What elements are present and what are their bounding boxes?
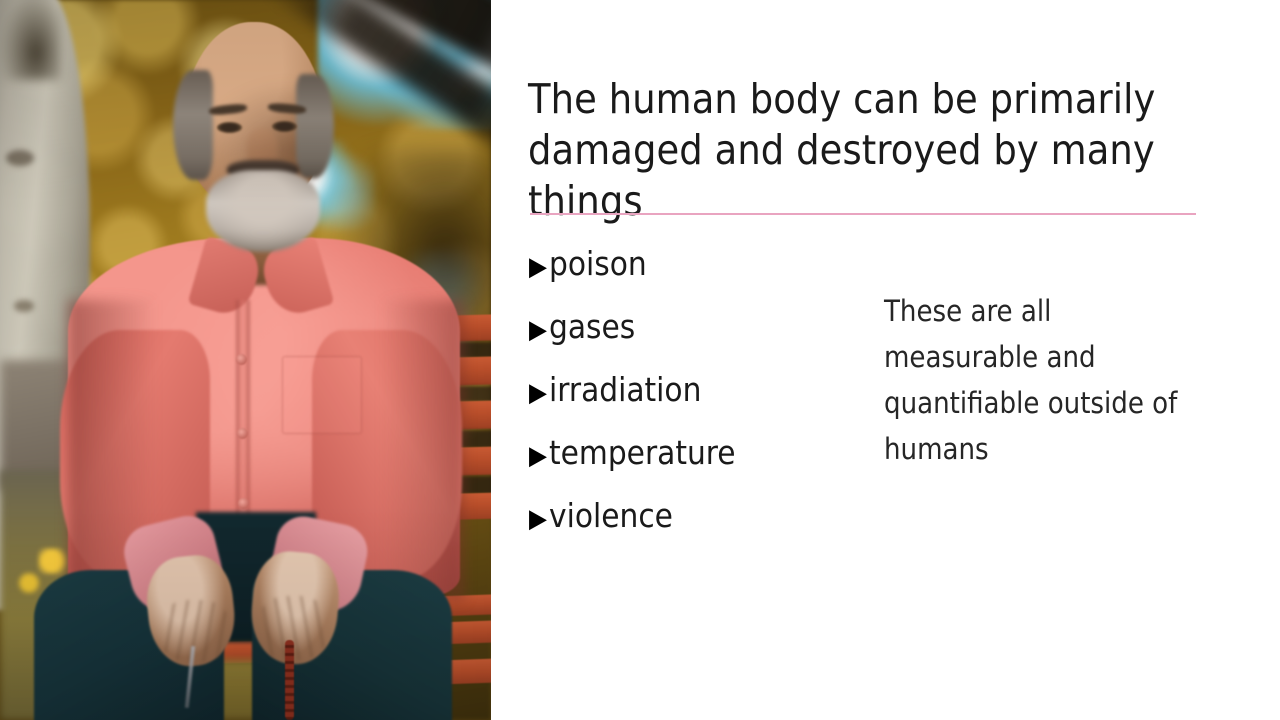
- list-item-label: gases: [549, 297, 635, 356]
- left-hand-fingers: [160, 600, 230, 662]
- title-divider-rule: [530, 213, 1196, 215]
- tree-trunk-knot-lower: [14, 300, 34, 312]
- shirt-pocket: [282, 356, 362, 434]
- side-note-text: These are all measurable and quantifiabl…: [884, 288, 1184, 472]
- yellow-flower-second: [16, 572, 42, 594]
- list-item-label: temperature: [549, 423, 736, 482]
- list-item-label: violence: [549, 486, 673, 545]
- bullet-list: ▶ poison ▶ gases ▶ irradiation ▶ tempera…: [529, 234, 859, 549]
- prayer-beads: [285, 640, 294, 720]
- list-item-label: poison: [549, 234, 647, 293]
- hair-left-side: [173, 70, 213, 180]
- yellow-flower: [38, 548, 72, 574]
- eye-left: [217, 122, 242, 133]
- shirt-shadow-right: [360, 300, 464, 600]
- tree-trunk-shadow: [0, 0, 60, 80]
- triangle-bullet-icon: ▶: [529, 238, 547, 297]
- list-item: ▶ poison: [529, 234, 859, 297]
- list-item: ▶ gases: [529, 297, 859, 360]
- hair-right-side: [296, 74, 334, 178]
- list-item-label: irradiation: [549, 360, 701, 419]
- beard: [206, 170, 320, 252]
- tree-trunk-knot: [6, 150, 34, 166]
- triangle-bullet-icon: ▶: [529, 427, 547, 486]
- elderly-man-on-park-bench-photo: [0, 0, 491, 720]
- shirt-button: [238, 498, 249, 509]
- triangle-bullet-icon: ▶: [529, 490, 547, 549]
- eye-right: [272, 121, 297, 132]
- list-item: ▶ temperature: [529, 423, 859, 486]
- slide-canvas: The human body can be primarily damaged …: [0, 0, 1280, 720]
- shirt-button: [237, 428, 248, 439]
- list-item: ▶ violence: [529, 486, 859, 549]
- page-title: The human body can be primarily damaged …: [528, 74, 1228, 227]
- triangle-bullet-icon: ▶: [529, 301, 547, 360]
- list-item: ▶ irradiation: [529, 360, 859, 423]
- triangle-bullet-icon: ▶: [529, 364, 547, 423]
- shirt-button: [236, 354, 247, 365]
